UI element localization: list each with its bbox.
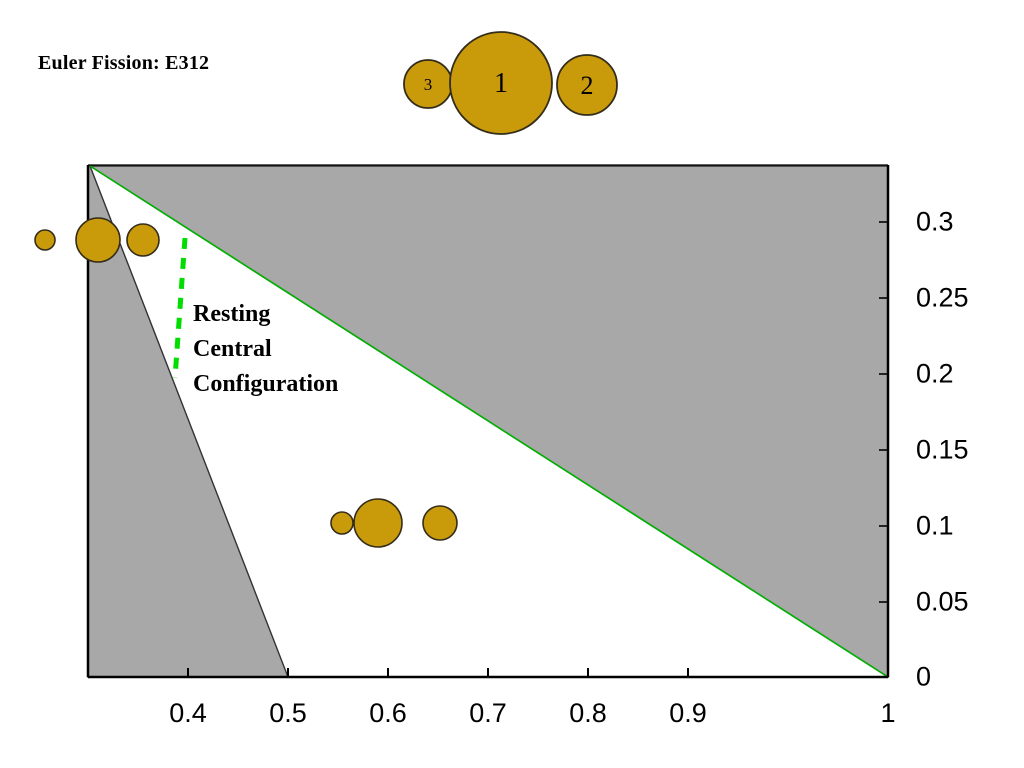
y-axis-tick-label-3: 0.15 [916,435,969,466]
y-axis-tick-label-0: 0.3 [916,207,954,238]
x-axis-tick-label-1: 0.5 [269,698,307,729]
body-circle-3 [127,224,159,256]
y-axis-tick-label-5: 0.05 [916,587,969,618]
x-axis-tick-label-4: 0.8 [569,698,607,729]
body-circle-2 [354,499,402,547]
plot-canvas [0,0,1024,768]
schematic-body-label-2: 2 [581,71,594,101]
configuration-upper-left [35,218,159,262]
annotation-line-1: Resting [193,297,338,332]
annotation-line-2: Central [193,332,338,367]
y-axis-tick-label-6: 0 [916,662,931,693]
body-circle-3 [423,506,457,540]
body-circle-1 [35,230,55,250]
configuration-lower-middle [331,499,457,547]
x-axis-tick-label-2: 0.6 [369,698,407,729]
x-axis-tick-label-5: 0.9 [669,698,707,729]
body-circle-1 [331,512,353,534]
annotation-line-3: Configuration [193,367,338,402]
resting-central-configuration-line [175,238,185,378]
y-axis-tick-label-1: 0.25 [916,283,969,314]
y-axis-tick-label-4: 0.1 [916,511,954,542]
body-circle-2 [76,218,120,262]
schematic-body-label-1: 1 [494,68,508,100]
x-axis-tick-label-6: 1 [880,698,895,729]
x-axis-tick-label-0: 0.4 [169,698,207,729]
y-axis-tick-label-2: 0.2 [916,359,954,390]
resting-central-configuration-label: Resting Central Configuration [193,297,338,402]
schematic-body-label-3: 3 [424,75,433,95]
figure-root: Euler Fission: E312 Resting Central Conf… [0,0,1024,768]
x-axis-tick-label-3: 0.7 [469,698,507,729]
